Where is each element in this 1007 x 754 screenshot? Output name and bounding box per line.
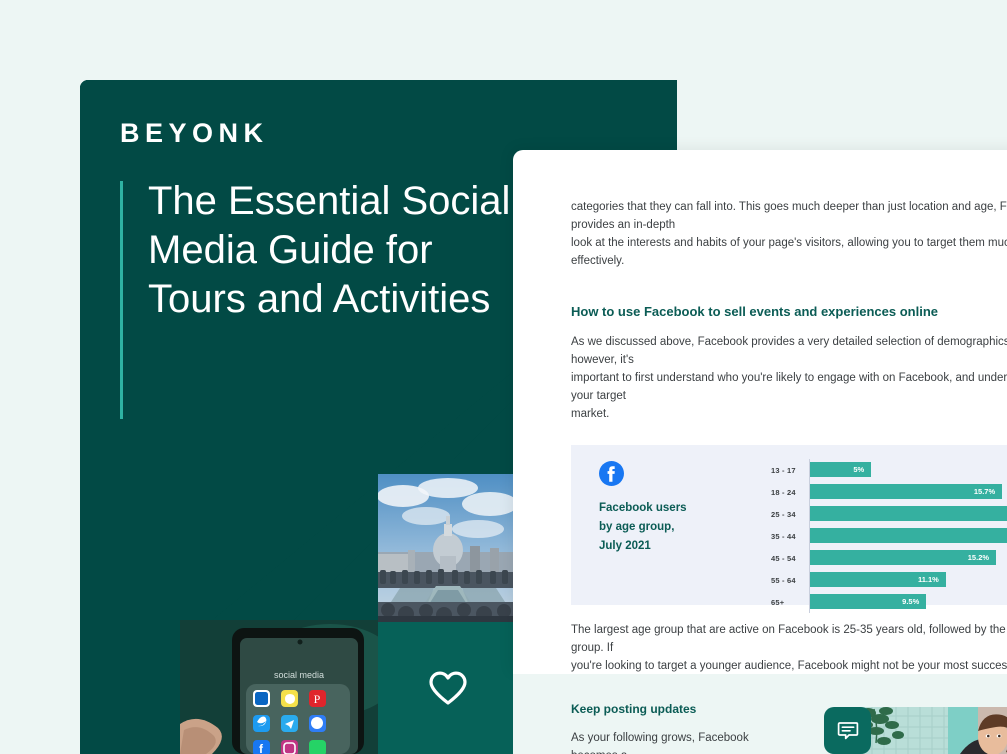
bar-row: 65+9.5% bbox=[771, 591, 1007, 613]
bar-row: 18 - 2415.7% bbox=[771, 481, 1007, 503]
paragraph-top-line-1: categories that they can fall into. This… bbox=[571, 201, 1007, 231]
facebook-age-chart-card: Facebook users by age group, July 2021 1… bbox=[571, 445, 1007, 605]
bar-category-label: 18 - 24 bbox=[771, 488, 809, 497]
paragraph-intro-line-1: As we discussed above, Facebook provides… bbox=[571, 333, 1007, 369]
brand-logo: BEYONK bbox=[120, 118, 269, 149]
bar-row: 45 - 5415.2% bbox=[771, 547, 1007, 569]
bar-value-label: 15.7% bbox=[974, 487, 1002, 496]
paragraph-intro-line-2: important to first understand who you're… bbox=[571, 369, 1007, 405]
smartphone-social-media-photo: social media P f bbox=[180, 620, 378, 754]
svg-text:social media: social media bbox=[274, 670, 324, 680]
facebook-icon bbox=[599, 461, 624, 486]
section-heading: How to use Facebook to sell events and e… bbox=[571, 304, 1007, 319]
document-preview-panel: categories that they can fall into. This… bbox=[513, 150, 1007, 674]
page-root: BEYONK The Essential Social Media Guide … bbox=[0, 0, 1007, 754]
bar-track: 15.2% bbox=[809, 547, 1007, 569]
bar-track: 11.1% bbox=[809, 569, 1007, 591]
cover-title-line-3: Tours and Activities bbox=[148, 275, 510, 324]
bar: 25% bbox=[810, 506, 1007, 521]
woman-with-plants-photo bbox=[852, 707, 1007, 754]
paragraph-after-chart-line-2: you're looking to target a younger audie… bbox=[571, 657, 1007, 674]
bar-category-label: 65+ bbox=[771, 598, 809, 607]
bar-category-label: 25 - 34 bbox=[771, 510, 809, 519]
bar-track: 18.5% bbox=[809, 525, 1007, 547]
bar-value-label: 15.2% bbox=[968, 553, 996, 562]
bar-row: 35 - 4418.5% bbox=[771, 525, 1007, 547]
bar-track: 25% bbox=[809, 503, 1007, 525]
paragraph-top: categories that they can fall into. This… bbox=[571, 198, 1007, 234]
bar: 5% bbox=[810, 462, 871, 477]
paragraph-top-line-2: look at the interests and habits of your… bbox=[571, 237, 1007, 267]
cover-title-block: The Essential Social Media Guide for Tou… bbox=[120, 177, 510, 324]
chat-bubble-icon bbox=[837, 720, 859, 742]
bar-value-label: 11.1% bbox=[918, 575, 946, 584]
bar-track: 5% bbox=[809, 459, 1007, 481]
paragraph-after-chart-line-1: The largest age group that are active on… bbox=[571, 621, 1007, 657]
svg-text:P: P bbox=[314, 692, 321, 706]
bar-track: 9.5% bbox=[809, 591, 1007, 613]
bar-value-label: 5% bbox=[853, 465, 871, 474]
bar-category-label: 55 - 64 bbox=[771, 576, 809, 585]
bar-row: 25 - 3425% bbox=[771, 503, 1007, 525]
paragraph-intro-line-3: market. bbox=[571, 405, 1007, 423]
chat-widget-button[interactable] bbox=[824, 707, 871, 754]
bar-category-label: 35 - 44 bbox=[771, 532, 809, 541]
lower-content-section: Keep posting updates As your following g… bbox=[513, 674, 1007, 754]
heart-icon bbox=[429, 671, 467, 705]
title-accent-rule bbox=[120, 181, 123, 419]
bar-track: 15.7% bbox=[809, 481, 1007, 503]
bar-row: 13 - 175% bbox=[771, 459, 1007, 481]
paragraph-top-cont: look at the interests and habits of your… bbox=[571, 234, 1007, 270]
bar: 15.7% bbox=[810, 484, 1002, 499]
bar-category-label: 13 - 17 bbox=[771, 466, 809, 475]
bar: 18.5% bbox=[810, 528, 1007, 543]
heart-tile bbox=[378, 622, 518, 754]
bar-value-label: 9.5% bbox=[902, 597, 926, 606]
bar-row: 55 - 6411.1% bbox=[771, 569, 1007, 591]
bar: 9.5% bbox=[810, 594, 926, 609]
bar-category-label: 45 - 54 bbox=[771, 554, 809, 563]
bar: 11.1% bbox=[810, 572, 946, 587]
st-pauls-cathedral-photo bbox=[378, 474, 518, 622]
cover-title-line-2: Media Guide for bbox=[148, 226, 510, 275]
bar-chart-plot: 13 - 175%18 - 2415.7%25 - 3425%35 - 4418… bbox=[771, 459, 1007, 599]
lower-paragraph-line-1: As your following grows, Facebook become… bbox=[571, 729, 786, 754]
page-title: The Essential Social Media Guide for Tou… bbox=[148, 177, 510, 324]
bar: 15.2% bbox=[810, 550, 996, 565]
cover-title-line-1: The Essential Social bbox=[148, 177, 510, 226]
